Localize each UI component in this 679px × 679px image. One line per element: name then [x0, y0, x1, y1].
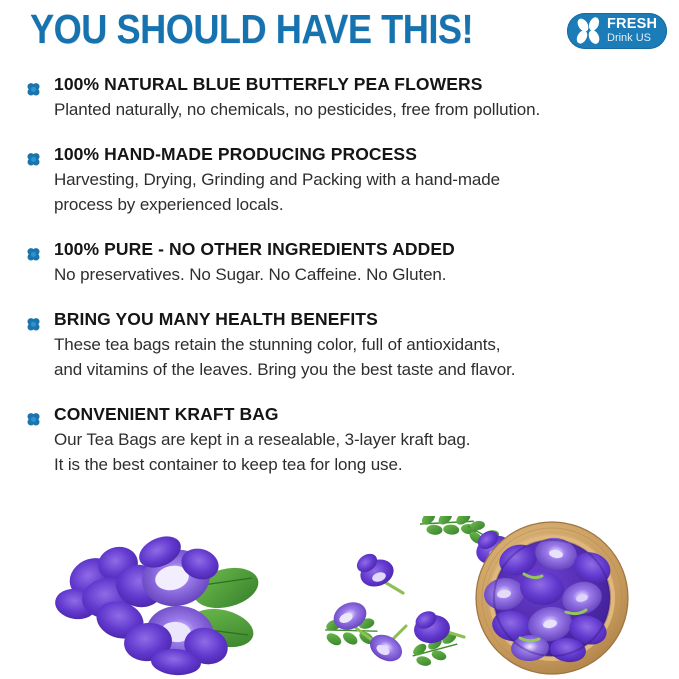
- brand-logo: FRESH Drink US: [567, 13, 667, 49]
- blue-flower-bullet-icon: [26, 412, 41, 427]
- product-feature-infographic: YOU SHOULD HAVE THIS! FRESH Drink US: [0, 0, 679, 679]
- feature-title: 100% NATURAL BLUE BUTTERFLY PEA FLOWERS: [54, 72, 671, 96]
- feature-list: 100% NATURAL BLUE BUTTERFLY PEA FLOWERS …: [0, 72, 679, 477]
- brand-name-primary: FRESH: [607, 16, 665, 32]
- feature-description-line: Planted naturally, no chemicals, no pest…: [54, 97, 671, 122]
- feature-title: 100% PURE - NO OTHER INGREDIENTS ADDED: [54, 237, 671, 261]
- feature-description: Our Tea Bags are kept in a resealable, 3…: [54, 427, 671, 477]
- feature-item: CONVENIENT KRAFT BAG Our Tea Bags are ke…: [0, 402, 679, 477]
- leaf-petals-icon: [574, 17, 604, 45]
- brand-name-secondary: Drink US: [607, 32, 665, 45]
- blue-flower-bullet-icon: [26, 82, 41, 97]
- feature-description-line: No preservatives. No Sugar. No Caffeine.…: [54, 262, 671, 287]
- feature-item: 100% NATURAL BLUE BUTTERFLY PEA FLOWERS …: [0, 72, 679, 122]
- feature-description: Planted naturally, no chemicals, no pest…: [54, 97, 671, 122]
- feature-item: 100% HAND-MADE PRODUCING PROCESS Harvest…: [0, 142, 679, 217]
- feature-description: Harvesting, Drying, Grinding and Packing…: [54, 167, 671, 217]
- feature-title: 100% HAND-MADE PRODUCING PROCESS: [54, 142, 671, 166]
- brand-logo-text: FRESH Drink US: [607, 16, 665, 45]
- feature-title: BRING YOU MANY HEALTH BENEFITS: [54, 307, 671, 331]
- feature-description-line: Our Tea Bags are kept in a resealable, 3…: [54, 427, 671, 452]
- feature-description-line: Harvesting, Drying, Grinding and Packing…: [54, 167, 671, 192]
- feature-item: 100% PURE - NO OTHER INGREDIENTS ADDED N…: [0, 237, 679, 287]
- wooden-bowl-of-dried-butterfly-pea-flowers: [476, 522, 628, 674]
- feature-description-line: It is the best container to keep tea for…: [54, 452, 671, 477]
- feature-description: These tea bags retain the stunning color…: [54, 332, 671, 382]
- page-title: YOU SHOULD HAVE THIS!: [30, 6, 473, 52]
- butterfly-pea-flower-photo-strip: [0, 516, 679, 679]
- blue-flower-bullet-icon: [26, 317, 41, 332]
- feature-description-line: These tea bags retain the stunning color…: [54, 332, 671, 357]
- feature-description-line: and vitamins of the leaves. Bring you th…: [54, 357, 671, 382]
- feature-description-line: process by experienced locals.: [54, 192, 671, 217]
- feature-description: No preservatives. No Sugar. No Caffeine.…: [54, 262, 671, 287]
- feature-item: BRING YOU MANY HEALTH BENEFITS These tea…: [0, 307, 679, 382]
- blue-flower-bullet-icon: [26, 247, 41, 262]
- blue-flower-bullet-icon: [26, 152, 41, 167]
- header: YOU SHOULD HAVE THIS! FRESH Drink US: [0, 0, 679, 68]
- feature-title: CONVENIENT KRAFT BAG: [54, 402, 671, 426]
